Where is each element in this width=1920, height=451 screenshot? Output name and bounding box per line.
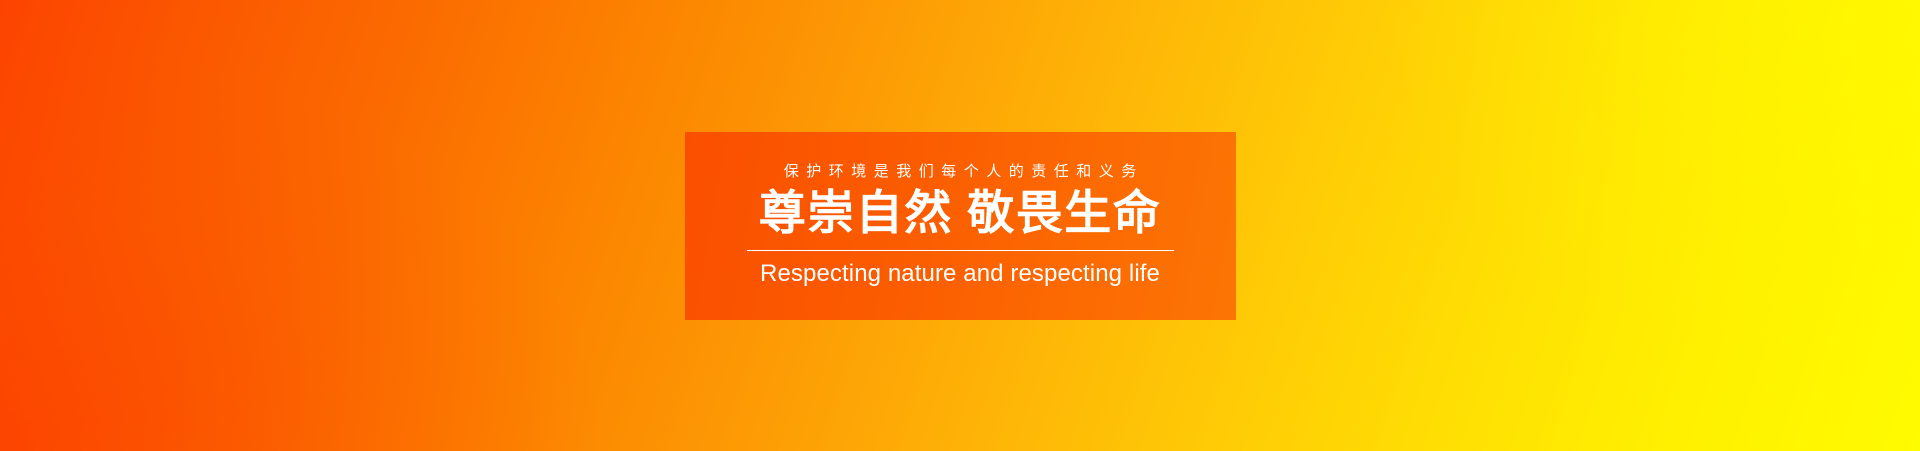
environment-slogan-banner: 保护环境是我们每个人的责任和义务 尊崇自然 敬畏生命 Respecting na… <box>0 0 1920 451</box>
panel-headline-text: 尊崇自然 敬畏生命 <box>759 188 1162 238</box>
panel-divider-rule <box>747 250 1174 251</box>
panel-eyebrow-text: 保护环境是我们每个人的责任和义务 <box>776 164 1144 179</box>
panel-english-subline-text: Respecting nature and respecting life <box>760 261 1160 287</box>
slogan-panel: 保护环境是我们每个人的责任和义务 尊崇自然 敬畏生命 Respecting na… <box>685 132 1236 320</box>
